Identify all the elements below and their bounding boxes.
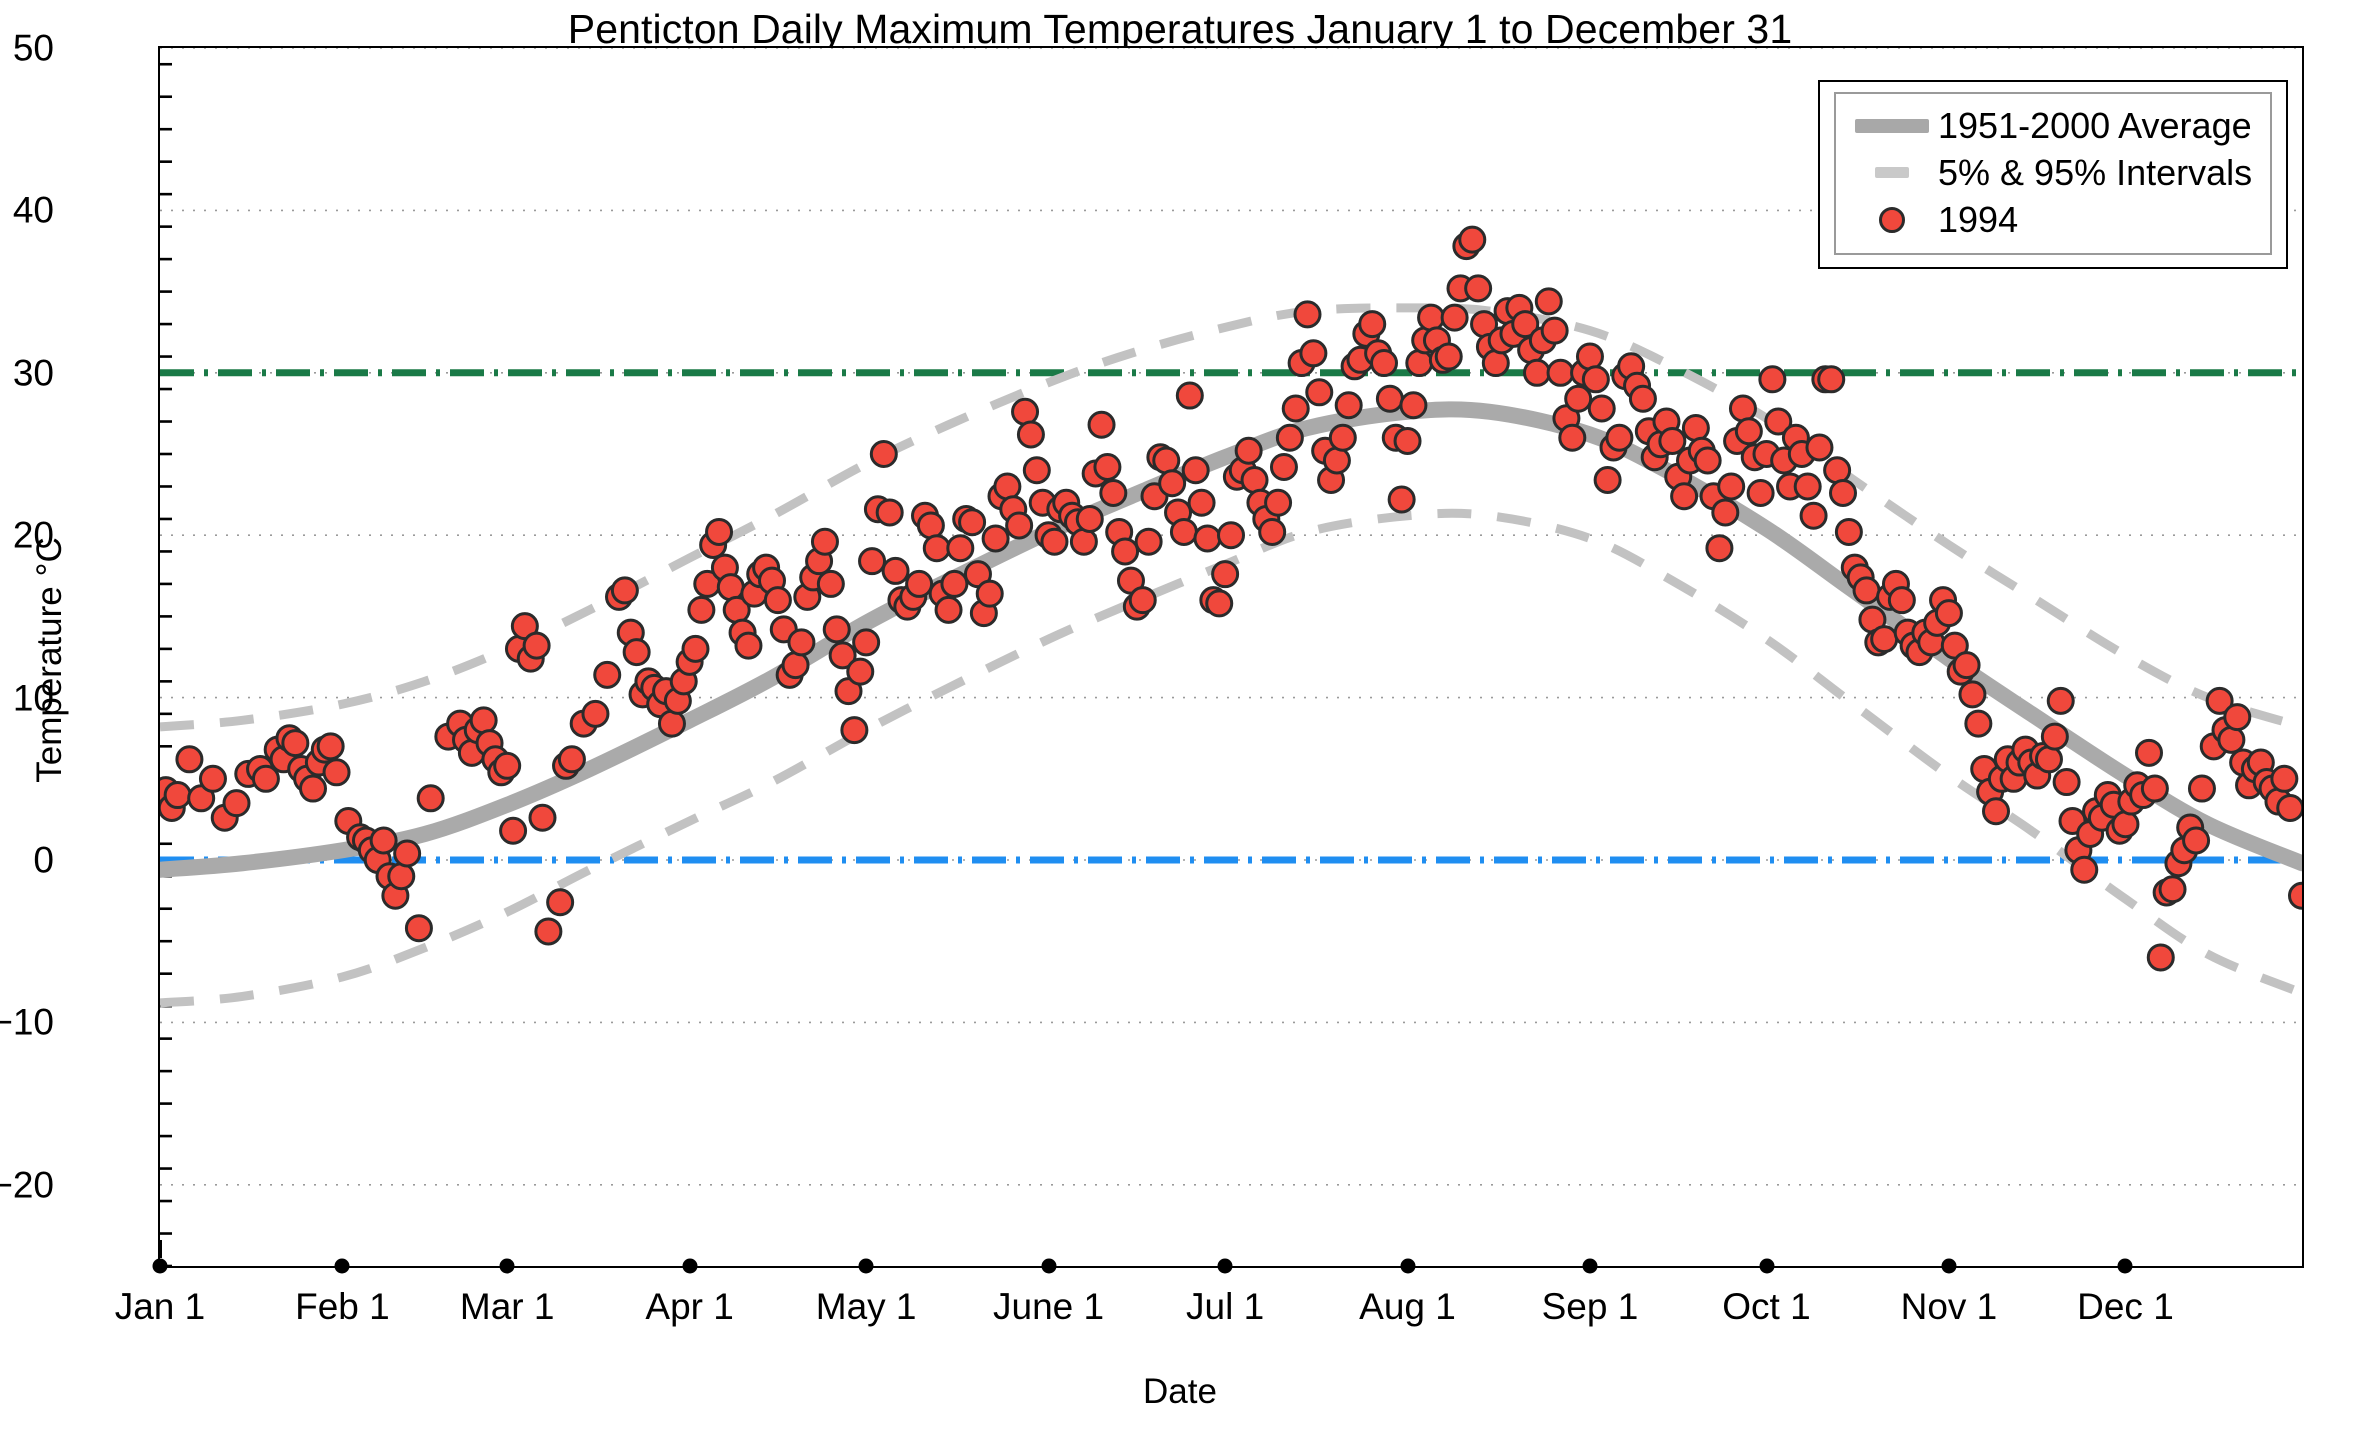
data-point xyxy=(1872,627,1897,652)
data-point xyxy=(1183,458,1208,483)
data-point xyxy=(2189,776,2214,801)
data-point xyxy=(854,630,879,655)
data-point xyxy=(2036,747,2061,772)
y-axis-tick-label: 10 xyxy=(0,679,54,716)
data-point xyxy=(907,571,932,596)
data-point xyxy=(736,633,761,658)
x-axis-tick-dot xyxy=(1400,1259,1415,1274)
data-point xyxy=(2290,883,2303,908)
data-point xyxy=(2113,812,2138,837)
data-point xyxy=(318,734,343,759)
data-point xyxy=(824,617,849,642)
data-point xyxy=(1360,312,1385,337)
data-point xyxy=(1171,519,1196,544)
x-axis-title: Date xyxy=(0,1372,2360,1412)
data-point xyxy=(1607,425,1632,450)
data-point xyxy=(871,442,896,467)
legend-label-intervals: 5% & 95% Intervals xyxy=(1938,152,2252,194)
data-point xyxy=(1077,506,1102,531)
data-point xyxy=(1577,344,1602,369)
data-point xyxy=(995,474,1020,499)
data-point xyxy=(659,711,684,736)
data-point xyxy=(1095,454,1120,479)
data-point xyxy=(2048,688,2073,713)
data-point xyxy=(501,818,526,843)
data-point xyxy=(1301,341,1326,366)
data-point xyxy=(683,636,708,661)
data-point xyxy=(883,558,908,583)
data-point xyxy=(1819,367,1844,392)
x-axis-tick-dot xyxy=(682,1259,697,1274)
data-point xyxy=(818,571,843,596)
data-point xyxy=(783,653,808,678)
data-point xyxy=(1707,536,1732,561)
data-point xyxy=(1419,305,1444,330)
data-point xyxy=(1936,601,1961,626)
data-point xyxy=(1401,393,1426,418)
data-point xyxy=(765,588,790,613)
data-point xyxy=(1966,711,1991,736)
data-point xyxy=(1266,490,1291,515)
data-point xyxy=(1984,799,2009,824)
data-point xyxy=(1407,351,1432,376)
data-point xyxy=(789,630,814,655)
y-axis-tick-label: 20 xyxy=(0,517,54,554)
data-point xyxy=(877,500,902,525)
data-point xyxy=(1330,425,1355,450)
data-point xyxy=(524,633,549,658)
data-point xyxy=(583,701,608,726)
data-point xyxy=(2272,766,2297,791)
data-point xyxy=(1395,429,1420,454)
data-point xyxy=(1007,513,1032,538)
y-axis-tick-label: 0 xyxy=(0,842,54,879)
x-axis-tick-dot xyxy=(2118,1259,2133,1274)
data-point xyxy=(224,791,249,816)
data-point xyxy=(1042,529,1067,554)
data-point xyxy=(1189,490,1214,515)
data-point xyxy=(1130,588,1155,613)
data-point xyxy=(918,513,943,538)
data-point xyxy=(2278,796,2302,821)
data-point xyxy=(1542,318,1567,343)
x-axis-tick-dot xyxy=(1759,1259,1774,1274)
data-point xyxy=(1807,435,1832,460)
legend-key-interval-dash xyxy=(1846,167,1938,178)
data-point xyxy=(1101,480,1126,505)
data-point xyxy=(1836,519,1861,544)
data-point xyxy=(689,597,714,622)
data-point xyxy=(1954,653,1979,678)
x-axis-tick-dot xyxy=(500,1259,515,1274)
legend-item-intervals[interactable]: 5% & 95% Intervals xyxy=(1846,149,2260,196)
data-point xyxy=(530,805,555,830)
data-point xyxy=(1324,448,1349,473)
data-point xyxy=(942,571,967,596)
data-point xyxy=(2225,705,2250,730)
data-point xyxy=(1548,360,1573,385)
y-axis-tick-label: 50 xyxy=(0,30,54,67)
data-point xyxy=(2072,857,2097,882)
data-point xyxy=(177,747,202,772)
data-point xyxy=(1595,467,1620,492)
data-point xyxy=(1583,367,1608,392)
data-point xyxy=(395,841,420,866)
data-point xyxy=(1748,480,1773,505)
data-point xyxy=(1483,351,1508,376)
data-point xyxy=(1713,500,1738,525)
data-point xyxy=(1018,422,1043,447)
data-point xyxy=(1736,419,1761,444)
data-point xyxy=(1889,588,1914,613)
x-axis-tick-dot xyxy=(1041,1259,1056,1274)
data-point xyxy=(1536,289,1561,314)
data-point xyxy=(1683,416,1708,441)
x-axis-tick-dot xyxy=(335,1259,350,1274)
legend-key-year-marker xyxy=(1846,207,1938,233)
data-point xyxy=(418,786,443,811)
data-point xyxy=(718,575,743,600)
data-point xyxy=(2054,770,2079,795)
data-point xyxy=(1825,458,1850,483)
data-point xyxy=(301,776,326,801)
data-point xyxy=(1854,578,1879,603)
data-point xyxy=(1730,396,1755,421)
data-point xyxy=(707,519,732,544)
data-point xyxy=(1336,393,1361,418)
data-point xyxy=(1177,383,1202,408)
data-point xyxy=(924,536,949,561)
data-point xyxy=(1377,386,1402,411)
data-point xyxy=(983,526,1008,551)
data-point xyxy=(595,662,620,687)
legend-item-year[interactable]: 1994 xyxy=(1846,196,2260,243)
data-point xyxy=(1560,425,1585,450)
data-point xyxy=(1089,412,1114,437)
legend-key-average-line xyxy=(1846,119,1938,133)
data-point xyxy=(1372,351,1397,376)
data-point xyxy=(936,597,961,622)
legend-label-year: 1994 xyxy=(1938,199,2018,241)
data-point xyxy=(2042,724,2067,749)
data-point xyxy=(1113,539,1138,564)
y-axis-tick-label: −10 xyxy=(0,1004,54,1041)
legend-item-average[interactable]: 1951-2000 Average xyxy=(1846,102,2260,149)
x-axis-tick-dot xyxy=(1218,1259,1233,1274)
data-point xyxy=(1831,480,1856,505)
data-point xyxy=(2137,740,2162,765)
data-point xyxy=(812,529,837,554)
data-point xyxy=(1195,526,1220,551)
data-point xyxy=(1154,448,1179,473)
data-point xyxy=(1719,474,1744,499)
data-point xyxy=(283,731,308,756)
data-point xyxy=(960,510,985,535)
data-point xyxy=(860,549,885,574)
x-axis-tick-label: Dec 1 xyxy=(1995,1288,2255,1325)
data-point xyxy=(2219,727,2244,752)
data-point xyxy=(1219,523,1244,548)
data-point xyxy=(1307,380,1332,405)
x-axis-tick-dot xyxy=(1941,1259,1956,1274)
data-point xyxy=(471,708,496,733)
data-point xyxy=(536,919,561,944)
y-axis-tick-label: 30 xyxy=(0,354,54,391)
data-point xyxy=(2142,776,2167,801)
data-point xyxy=(1442,305,1467,330)
data-point xyxy=(559,747,584,772)
data-point xyxy=(1160,471,1185,496)
chart-root: Penticton Daily Maximum Temperatures Jan… xyxy=(0,0,2360,1432)
data-point xyxy=(1271,454,1296,479)
data-point xyxy=(948,536,973,561)
data-point xyxy=(2184,828,2209,853)
data-point xyxy=(2148,945,2173,970)
data-point xyxy=(1236,438,1261,463)
legend-label-average: 1951-2000 Average xyxy=(1938,105,2252,147)
data-point xyxy=(1389,487,1414,512)
x-axis-first-tick-stub xyxy=(160,1240,162,1258)
x-axis-tick-dot xyxy=(153,1259,168,1274)
data-point xyxy=(1795,474,1820,499)
data-point xyxy=(612,578,637,603)
data-point xyxy=(842,718,867,743)
data-point xyxy=(389,864,414,889)
data-point xyxy=(2160,877,2185,902)
data-point xyxy=(1242,467,1267,492)
data-point xyxy=(1466,276,1491,301)
data-point xyxy=(1024,458,1049,483)
y-axis-tick-label: −20 xyxy=(0,1166,54,1203)
data-point xyxy=(1071,529,1096,554)
data-point xyxy=(1960,682,1985,707)
data-point xyxy=(548,890,573,915)
data-point xyxy=(1460,227,1485,252)
x-axis-tick-dot xyxy=(859,1259,874,1274)
data-point xyxy=(1672,484,1697,509)
data-point xyxy=(848,659,873,684)
data-point xyxy=(1260,519,1285,544)
data-point xyxy=(1207,591,1232,616)
data-point xyxy=(1436,344,1461,369)
data-point xyxy=(495,753,520,778)
data-point xyxy=(1589,396,1614,421)
data-point xyxy=(1213,562,1238,587)
data-point xyxy=(165,783,190,808)
data-point xyxy=(1801,503,1826,528)
data-point xyxy=(406,916,431,941)
chart-legend: 1951-2000 Average 5% & 95% Intervals 199… xyxy=(1818,80,2288,269)
data-point xyxy=(1695,448,1720,473)
data-point xyxy=(977,581,1002,606)
data-point xyxy=(1283,396,1308,421)
data-point xyxy=(324,760,349,785)
data-point xyxy=(371,828,396,853)
data-point xyxy=(1013,399,1038,424)
data-point xyxy=(200,766,225,791)
data-point xyxy=(1136,529,1161,554)
x-axis-tick-dot xyxy=(1582,1259,1597,1274)
data-point xyxy=(1277,425,1302,450)
y-axis-title: Temperature °C xyxy=(30,310,70,1010)
data-point xyxy=(1525,360,1550,385)
data-point xyxy=(1760,367,1785,392)
y-axis-tick-label: 40 xyxy=(0,192,54,229)
data-point xyxy=(1630,386,1655,411)
data-point xyxy=(1295,302,1320,327)
data-point xyxy=(624,640,649,665)
